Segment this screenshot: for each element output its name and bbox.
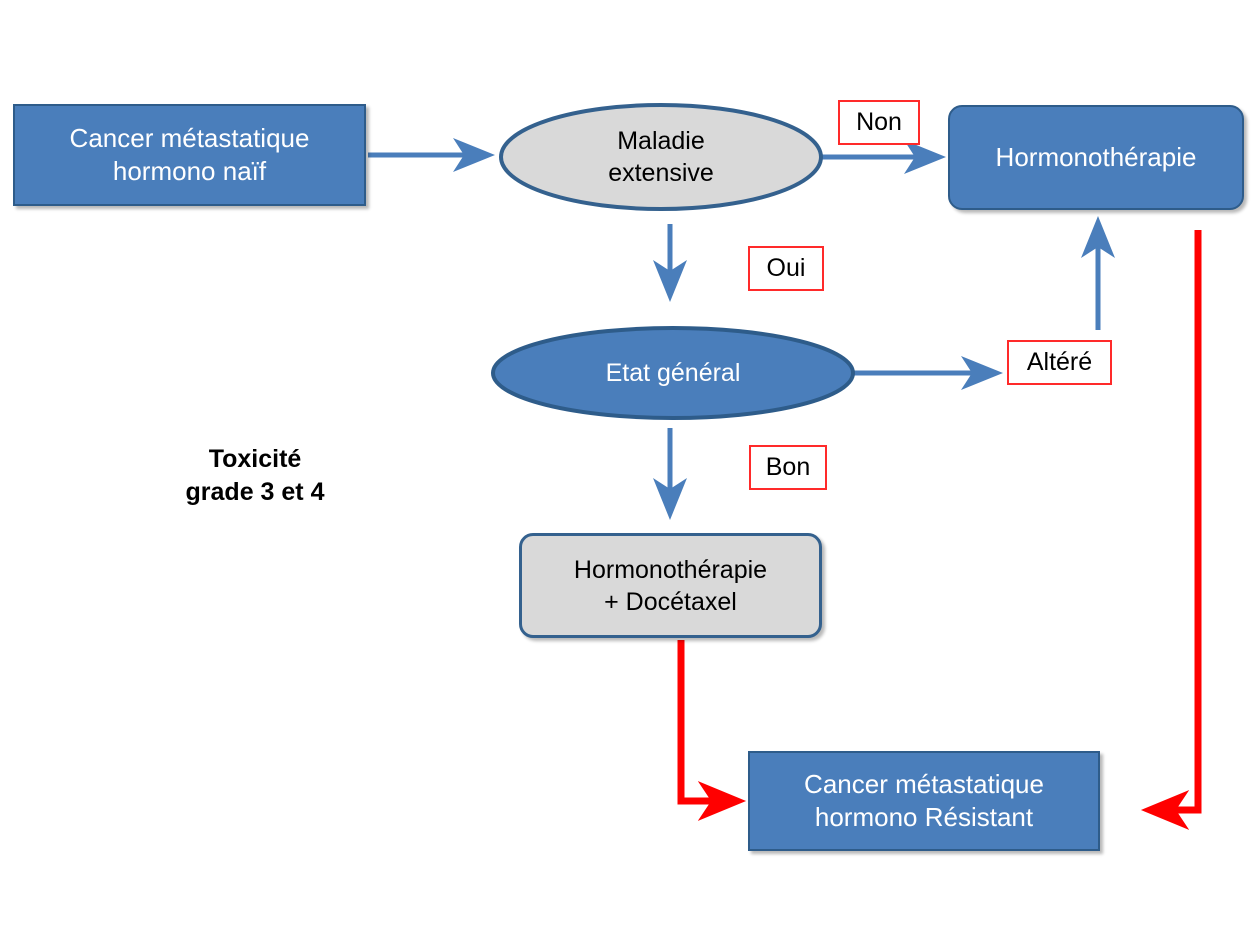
node-cancer-hormono-naif[interactable]: Cancer métastatique hormono naïf <box>13 104 366 206</box>
arrow-hormonotherapie-to-resistant-red <box>1150 230 1198 810</box>
node-hormonotherapie-docetaxel[interactable]: Hormonothérapie + Docétaxel <box>519 533 822 638</box>
edge-label-oui[interactable]: Oui <box>748 246 824 291</box>
edge-label-non[interactable]: Non <box>838 100 920 145</box>
annotation-toxicite-line1: Toxicité <box>150 443 360 476</box>
node-cancer-hormono-resistant[interactable]: Cancer métastatique hormono Résistant <box>748 751 1100 851</box>
node-etat-general-shape[interactable] <box>493 328 853 418</box>
annotation-toxicite-line2: grade 3 et 4 <box>150 476 360 509</box>
node-cancer-hormono-naif-line2: hormono naïf <box>113 155 266 188</box>
edge-label-oui-text: Oui <box>767 254 806 283</box>
node-cancer-hormono-resistant-line1: Cancer métastatique <box>804 768 1044 801</box>
annotation-toxicite: Toxicité grade 3 et 4 <box>150 443 360 508</box>
node-hormonotherapie[interactable]: Hormonothérapie <box>948 105 1244 210</box>
node-hormonotherapie-docetaxel-line2: + Docétaxel <box>604 586 737 618</box>
node-hormonotherapie-label: Hormonothérapie <box>996 141 1197 174</box>
node-cancer-hormono-resistant-line2: hormono Résistant <box>815 801 1033 834</box>
edge-label-altere-text: Altéré <box>1027 348 1092 377</box>
arrow-docetaxel-to-resistant-red <box>681 640 737 801</box>
flowchart-canvas: Cancer métastatique hormono naïf Maladie… <box>0 0 1260 945</box>
node-hormonotherapie-docetaxel-line1: Hormonothérapie <box>574 554 767 586</box>
edge-label-bon-text: Bon <box>766 453 810 482</box>
edge-label-altere[interactable]: Altéré <box>1007 340 1112 385</box>
edge-label-bon[interactable]: Bon <box>749 445 827 490</box>
edge-label-non-text: Non <box>856 108 902 137</box>
node-cancer-hormono-naif-line1: Cancer métastatique <box>70 122 310 155</box>
node-maladie-extensive-shape[interactable] <box>501 105 821 209</box>
